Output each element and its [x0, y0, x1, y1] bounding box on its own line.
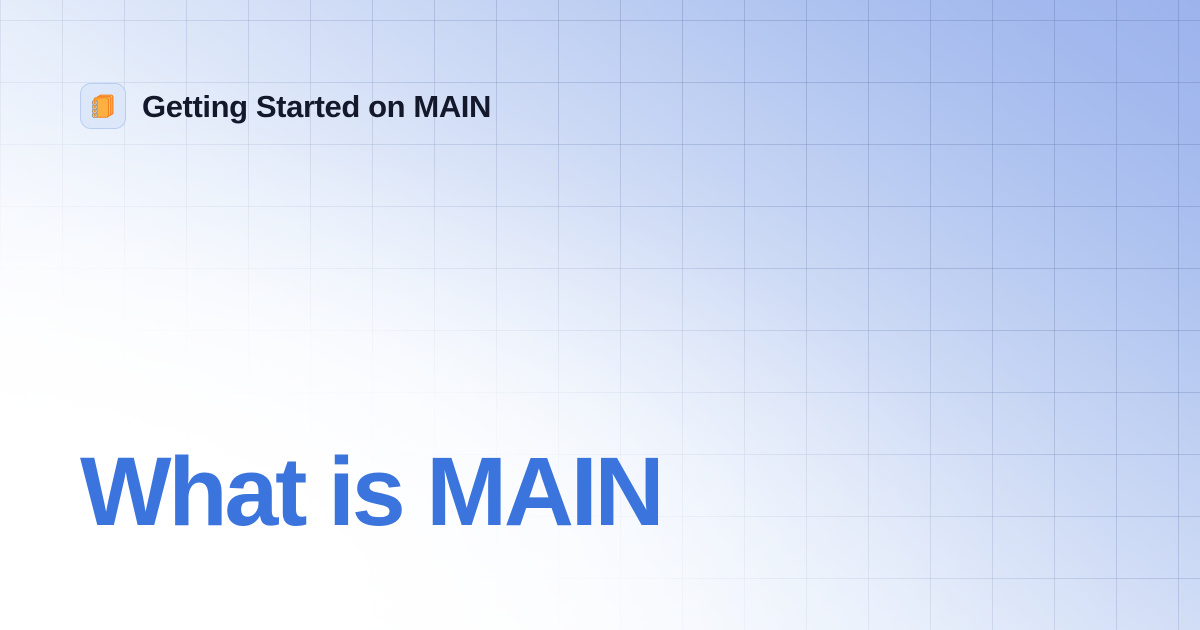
eyebrow-label: Getting Started on MAIN	[142, 91, 491, 122]
card-content: Getting Started on MAIN What is MAIN	[0, 0, 1200, 630]
page-title: What is MAIN	[80, 443, 661, 540]
spiral-notebook-icon	[88, 91, 118, 121]
eyebrow-row: Getting Started on MAIN	[80, 83, 491, 129]
notebook-icon-badge	[80, 83, 126, 129]
og-banner-card: Getting Started on MAIN What is MAIN	[0, 0, 1200, 630]
